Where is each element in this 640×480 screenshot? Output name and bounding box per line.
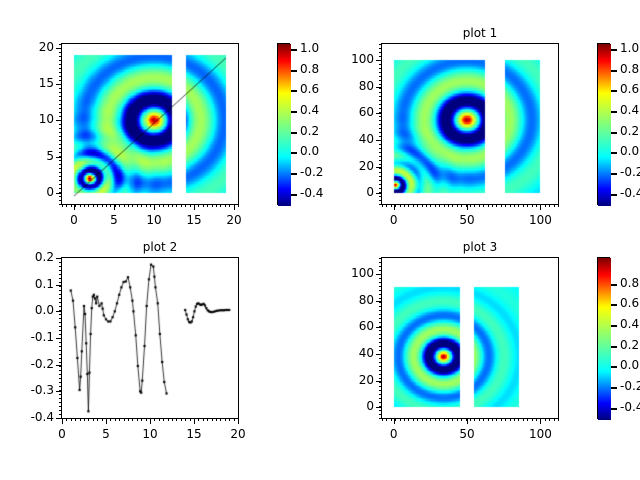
x-minor-tick [514,204,515,207]
colorbar-tick-label: 1.0 [620,41,639,55]
y-minor-tick [379,302,382,303]
x-minor-tick [492,204,493,207]
y-minor-tick [379,124,382,125]
y-minor-tick [379,152,382,153]
x-minor-tick [457,418,458,421]
y-tick-label: -0.4 [6,410,54,424]
x-minor-tick [141,204,142,207]
y-minor-tick [379,56,382,57]
axes-frame-bottom-right [381,257,559,419]
y-minor-tick [59,382,62,383]
y-minor-tick [379,338,382,339]
x-minor-tick [102,204,103,207]
x-minor-tick [115,204,116,207]
x-minor-tick [479,418,480,421]
y-minor-tick [59,402,62,403]
y-minor-tick [379,398,382,399]
x-minor-tick [448,204,449,207]
y-minor-tick [59,68,62,69]
axes-frame-top-left [61,43,239,205]
colorbar-tick [611,132,617,134]
y-minor-tick [59,76,62,77]
y-minor-tick [59,152,62,153]
y-minor-tick [379,52,382,53]
x-minor-tick [88,418,89,421]
colorbar-tick [291,70,297,72]
colorbar-top-right [597,43,610,205]
colorbar-tick [611,49,617,51]
colorbar-tick [611,408,617,410]
x-minor-tick [119,418,120,421]
y-minor-tick [379,366,382,367]
y-minor-tick [379,286,382,287]
y-minor-tick [59,120,62,121]
x-minor-tick [545,418,546,421]
x-minor-tick [146,204,147,207]
x-minor-tick [216,204,217,207]
x-minor-tick [474,204,475,207]
y-minor-tick [379,148,382,149]
colorbar-tick-label: 0.8 [620,276,639,290]
x-minor-tick [474,418,475,421]
x-minor-tick [181,418,182,421]
y-minor-tick [59,374,62,375]
y-minor-tick [59,378,62,379]
y-minor-tick [59,72,62,73]
y-minor-tick [59,326,62,327]
x-minor-tick [470,204,471,207]
panel-top-left: 0510152005101520 1.00.80.60.40.20.0-0.2-… [0,0,320,240]
y-minor-tick [379,266,382,267]
colorbar-tick [611,70,617,72]
figure-canvas: 0510152005101520 1.00.80.60.40.20.0-0.2-… [0,0,640,480]
x-minor-tick [176,204,177,207]
x-tick-label: 100 [520,213,560,227]
x-minor-tick [207,204,208,207]
y-tick-label: 0.2 [6,250,54,264]
y-minor-tick [59,338,62,339]
x-minor-tick [554,204,555,207]
x-minor-tick [207,418,208,421]
x-minor-tick [137,418,138,421]
x-minor-tick [190,204,191,207]
colorbar-tick [291,132,297,134]
y-minor-tick [59,156,62,157]
x-minor-tick [558,204,559,207]
x-tick-label: 0 [374,427,414,441]
x-minor-tick [220,204,221,207]
y-minor-tick [379,136,382,137]
y-minor-tick [59,334,62,335]
x-minor-tick [66,418,67,421]
colorbar-tick-label: 0.0 [300,144,319,158]
y-minor-tick [379,318,382,319]
y-minor-tick [59,294,62,295]
panel-bottom-right-title: plot 3 [320,240,640,254]
y-minor-tick [379,176,382,177]
x-minor-tick [137,204,138,207]
y-minor-tick [59,358,62,359]
y-minor-tick [59,148,62,149]
x-minor-tick [128,204,129,207]
y-minor-tick [379,48,382,49]
colorbar-tick-label: 0.0 [620,358,639,372]
y-minor-tick [379,274,382,275]
x-minor-tick [435,418,436,421]
x-minor-tick [132,418,133,421]
y-minor-tick [379,270,382,271]
y-minor-tick [59,306,62,307]
y-minor-tick [379,104,382,105]
y-minor-tick [379,406,382,407]
x-minor-tick [391,418,392,421]
x-minor-tick [234,418,235,421]
x-minor-tick [62,418,63,421]
x-minor-tick [527,204,528,207]
x-minor-tick [220,418,221,421]
x-minor-tick [395,418,396,421]
x-minor-tick [234,204,235,207]
x-tick-label: 0 [42,427,82,441]
x-minor-tick [66,204,67,207]
x-minor-tick [413,418,414,421]
y-minor-tick [379,200,382,201]
x-minor-tick [212,204,213,207]
y-minor-tick [59,286,62,287]
x-minor-tick [382,418,383,421]
x-minor-tick [426,418,427,421]
x-minor-tick [479,204,480,207]
x-minor-tick [422,418,423,421]
x-tick-label: 15 [174,427,214,441]
y-minor-tick [379,350,382,351]
y-minor-tick [59,112,62,113]
y-tick-label: 0.1 [6,277,54,291]
y-minor-tick [59,310,62,311]
x-minor-tick [216,418,217,421]
y-minor-tick [59,410,62,411]
x-minor-tick [176,418,177,421]
x-minor-tick [229,204,230,207]
x-minor-tick [71,204,72,207]
y-minor-tick [379,346,382,347]
y-minor-tick [379,342,382,343]
x-minor-tick [110,204,111,207]
y-minor-tick [59,318,62,319]
y-minor-tick [59,398,62,399]
colorbar-tick-label: 0.4 [300,103,319,117]
y-tick-label: 20 [6,40,54,54]
x-minor-tick [84,418,85,421]
x-minor-tick [75,418,76,421]
y-minor-tick [59,278,62,279]
y-minor-tick [59,290,62,291]
x-minor-tick [198,204,199,207]
colorbar-tick-label: -0.4 [620,400,640,414]
x-tick [467,204,468,210]
x-minor-tick [435,204,436,207]
x-minor-tick [238,418,239,421]
x-minor-tick [532,418,533,421]
y-minor-tick [59,56,62,57]
x-minor-tick [190,418,191,421]
x-minor-tick [115,418,116,421]
y-minor-tick [379,132,382,133]
y-minor-tick [59,100,62,101]
x-minor-tick [549,418,550,421]
x-minor-tick [514,418,515,421]
y-minor-tick [379,172,382,173]
y-minor-tick [59,128,62,129]
x-minor-tick [496,204,497,207]
colorbar-tick [611,346,617,348]
y-minor-tick [379,160,382,161]
y-tick [376,407,382,408]
x-minor-tick [229,418,230,421]
y-minor-tick [379,92,382,93]
y-minor-tick [379,306,382,307]
x-minor-tick [404,204,405,207]
x-minor-tick [430,418,431,421]
x-minor-tick [527,418,528,421]
y-minor-tick [379,116,382,117]
y-minor-tick [379,310,382,311]
x-minor-tick [163,204,164,207]
y-minor-tick [59,350,62,351]
y-minor-tick [379,402,382,403]
y-minor-tick [379,394,382,395]
x-minor-tick [554,418,555,421]
x-minor-tick [124,418,125,421]
x-minor-tick [483,418,484,421]
x-minor-tick [532,204,533,207]
y-minor-tick [59,274,62,275]
y-tick-label: 20 [326,159,374,173]
y-minor-tick [379,140,382,141]
x-minor-tick [408,204,409,207]
y-minor-tick [379,184,382,185]
x-minor-tick [536,204,537,207]
y-minor-tick [59,64,62,65]
y-minor-tick [379,64,382,65]
colorbar-top-left [277,43,290,205]
y-minor-tick [59,96,62,97]
colorbar-tick-label: 0.2 [620,338,639,352]
y-tick [376,327,382,328]
x-minor-tick [413,204,414,207]
colorbar-tick-label: 0.6 [300,82,319,96]
y-minor-tick [379,204,382,205]
y-minor-tick [379,418,382,419]
x-minor-tick [119,204,120,207]
y-tick-label: -0.2 [6,357,54,371]
x-minor-tick [198,418,199,421]
colorbar-tick [611,111,617,113]
x-minor-tick [75,204,76,207]
y-minor-tick [379,262,382,263]
y-tick-label: 80 [326,293,374,307]
y-minor-tick [379,330,382,331]
colorbar-tick-label: 0.2 [620,124,639,138]
y-minor-tick [379,192,382,193]
colorbar-tick [611,304,617,306]
y-tick-label: 0.0 [6,303,54,317]
y-minor-tick [379,128,382,129]
x-tick-label: 20 [214,213,254,227]
x-minor-tick [400,204,401,207]
x-tick-label: 15 [174,213,214,227]
x-minor-tick [444,418,445,421]
colorbar-tick-label: 0.4 [620,103,639,117]
y-minor-tick [59,44,62,45]
y-tick-label: 5 [6,149,54,163]
y-minor-tick [379,378,382,379]
axes-frame-top-right [381,43,559,205]
y-tick [56,193,62,194]
x-minor-tick [400,418,401,421]
y-minor-tick [59,386,62,387]
colorbar-tick-label: 0.2 [300,124,319,138]
y-minor-tick [59,270,62,271]
x-minor-tick [452,418,453,421]
y-minor-tick [379,362,382,363]
x-minor-tick [492,418,493,421]
colorbar-tick-label: 0.6 [620,82,639,96]
y-tick-label: 100 [326,266,374,280]
x-minor-tick [404,418,405,421]
y-minor-tick [379,282,382,283]
y-minor-tick [59,196,62,197]
y-tick-label: 20 [326,373,374,387]
x-minor-tick [203,204,204,207]
y-minor-tick [59,370,62,371]
y-minor-tick [379,326,382,327]
x-minor-tick [466,204,467,207]
y-minor-tick [59,48,62,49]
y-tick-label: 80 [326,79,374,93]
y-minor-tick [59,168,62,169]
x-tick-label: 50 [447,427,487,441]
y-minor-tick [379,382,382,383]
y-minor-tick [59,362,62,363]
y-minor-tick [59,132,62,133]
x-minor-tick [212,418,213,421]
colorbar-tick [291,194,297,196]
x-minor-tick [523,204,524,207]
colorbar-tick-label: -0.2 [620,379,640,393]
x-minor-tick [540,418,541,421]
y-minor-tick [379,374,382,375]
y-minor-tick [59,188,62,189]
x-minor-tick [444,204,445,207]
x-minor-tick [457,204,458,207]
colorbar-tick-label: -0.4 [620,186,640,200]
x-minor-tick [439,204,440,207]
y-minor-tick [379,314,382,315]
x-minor-tick [84,204,85,207]
y-minor-tick [59,144,62,145]
y-minor-tick [379,68,382,69]
x-minor-tick [395,204,396,207]
colorbar-tick [291,152,297,154]
y-minor-tick [379,120,382,121]
y-minor-tick [379,112,382,113]
x-minor-tick [106,204,107,207]
x-minor-tick [488,418,489,421]
axes-frame-bottom-left [61,257,239,419]
y-minor-tick [379,334,382,335]
y-minor-tick [379,144,382,145]
colorbar-tick-label: 0.6 [620,296,639,310]
x-minor-tick [426,204,427,207]
y-minor-tick [59,414,62,415]
x-minor-tick [225,418,226,421]
y-tick [56,391,62,392]
y-minor-tick [59,92,62,93]
colorbar-tick [611,366,617,368]
x-minor-tick [518,204,519,207]
y-minor-tick [379,96,382,97]
y-minor-tick [379,414,382,415]
x-minor-tick [80,204,81,207]
x-minor-tick [93,204,94,207]
x-minor-tick [159,418,160,421]
x-minor-tick [540,204,541,207]
y-minor-tick [59,176,62,177]
x-minor-tick [417,204,418,207]
y-minor-tick [379,108,382,109]
x-minor-tick [225,204,226,207]
y-tick [56,311,62,312]
y-minor-tick [379,72,382,73]
y-minor-tick [379,390,382,391]
y-tick-label: 0 [326,399,374,413]
x-minor-tick [536,418,537,421]
x-minor-tick [408,418,409,421]
y-minor-tick [59,354,62,355]
y-tick-label: 0 [6,185,54,199]
y-minor-tick [59,394,62,395]
y-minor-tick [379,290,382,291]
y-minor-tick [59,366,62,367]
y-minor-tick [59,80,62,81]
x-minor-tick [238,204,239,207]
y-minor-tick [379,358,382,359]
x-minor-tick [168,204,169,207]
y-minor-tick [59,322,62,323]
colorbar-tick-label: 0.8 [300,62,319,76]
x-minor-tick [71,418,72,421]
x-minor-tick [124,204,125,207]
x-minor-tick [150,418,151,421]
y-minor-tick [59,390,62,391]
y-tick-label: 60 [326,105,374,119]
x-minor-tick [505,418,506,421]
x-minor-tick [128,418,129,421]
x-minor-tick [97,204,98,207]
x-minor-tick [417,418,418,421]
y-minor-tick [59,418,62,419]
x-minor-tick [452,204,453,207]
y-tick-label: 60 [326,319,374,333]
y-minor-tick [379,322,382,323]
y-minor-tick [59,140,62,141]
y-tick-label: 0 [326,185,374,199]
x-minor-tick [110,418,111,421]
colorbar-gradient-top-left [278,44,291,206]
y-minor-tick [59,136,62,137]
y-tick-label: 10 [6,112,54,126]
